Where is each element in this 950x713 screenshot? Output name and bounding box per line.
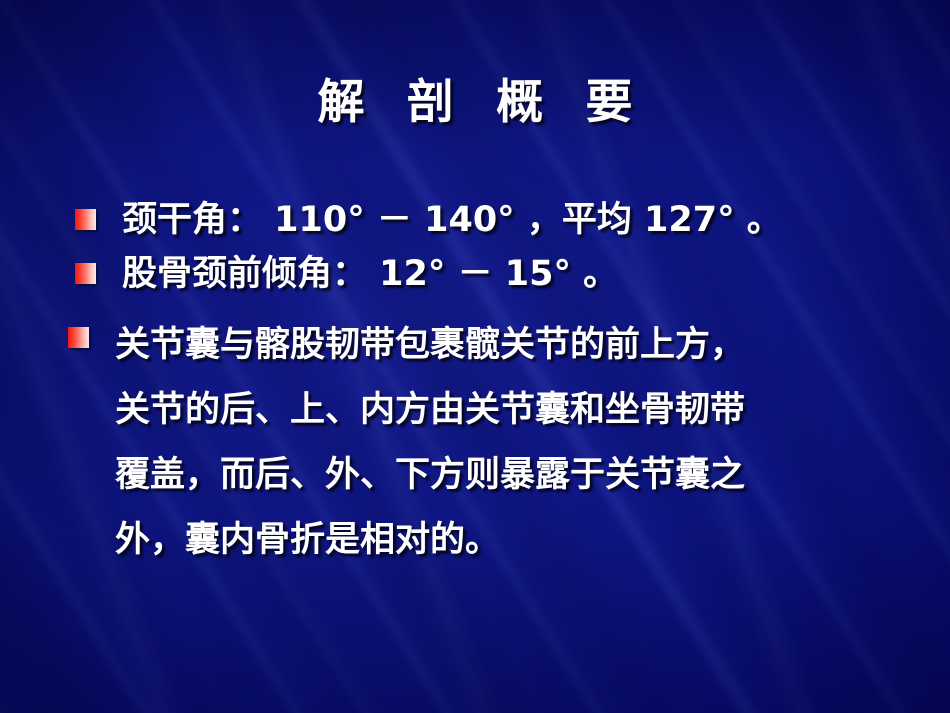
list-item: 颈干角： 110° － 140° ，平均 127° 。 [0, 196, 950, 244]
paragraph-line: 覆盖，而后、外、下方则暴露于关节囊之 [115, 442, 905, 507]
slide-content: 解 剖 概 要 颈干角： 110° － 140° ，平均 127° 。 股骨颈前… [0, 0, 950, 713]
paragraph-line: 关节囊与髂股韧带包裹髋关节的前上方， [115, 312, 905, 377]
slide-title: 解 剖 概 要 [0, 78, 950, 127]
square-bullet-icon [75, 263, 96, 284]
bullet-list: 颈干角： 110° － 140° ，平均 127° 。 股骨颈前倾角： 12° … [0, 196, 950, 578]
bullet-text-femoral-neck-anteversion: 股骨颈前倾角： 12° － 15° 。 [122, 250, 618, 298]
square-bullet-icon [68, 327, 89, 348]
bullet-text-joint-capsule: 关节囊与髂股韧带包裹髋关节的前上方， 关节的后、上、内方由关节囊和坐骨韧带 覆盖… [115, 312, 905, 572]
list-item: 关节囊与髂股韧带包裹髋关节的前上方， 关节的后、上、内方由关节囊和坐骨韧带 覆盖… [0, 312, 950, 572]
presentation-slide: 解 剖 概 要 颈干角： 110° － 140° ，平均 127° 。 股骨颈前… [0, 0, 950, 713]
paragraph-line: 外，囊内骨折是相对的。 [115, 507, 905, 572]
paragraph-line: 关节的后、上、内方由关节囊和坐骨韧带 [115, 377, 905, 442]
bullet-text-neck-shaft-angle: 颈干角： 110° － 140° ，平均 127° 。 [122, 196, 782, 244]
list-item: 股骨颈前倾角： 12° － 15° 。 [0, 250, 950, 298]
square-bullet-icon [75, 209, 96, 230]
